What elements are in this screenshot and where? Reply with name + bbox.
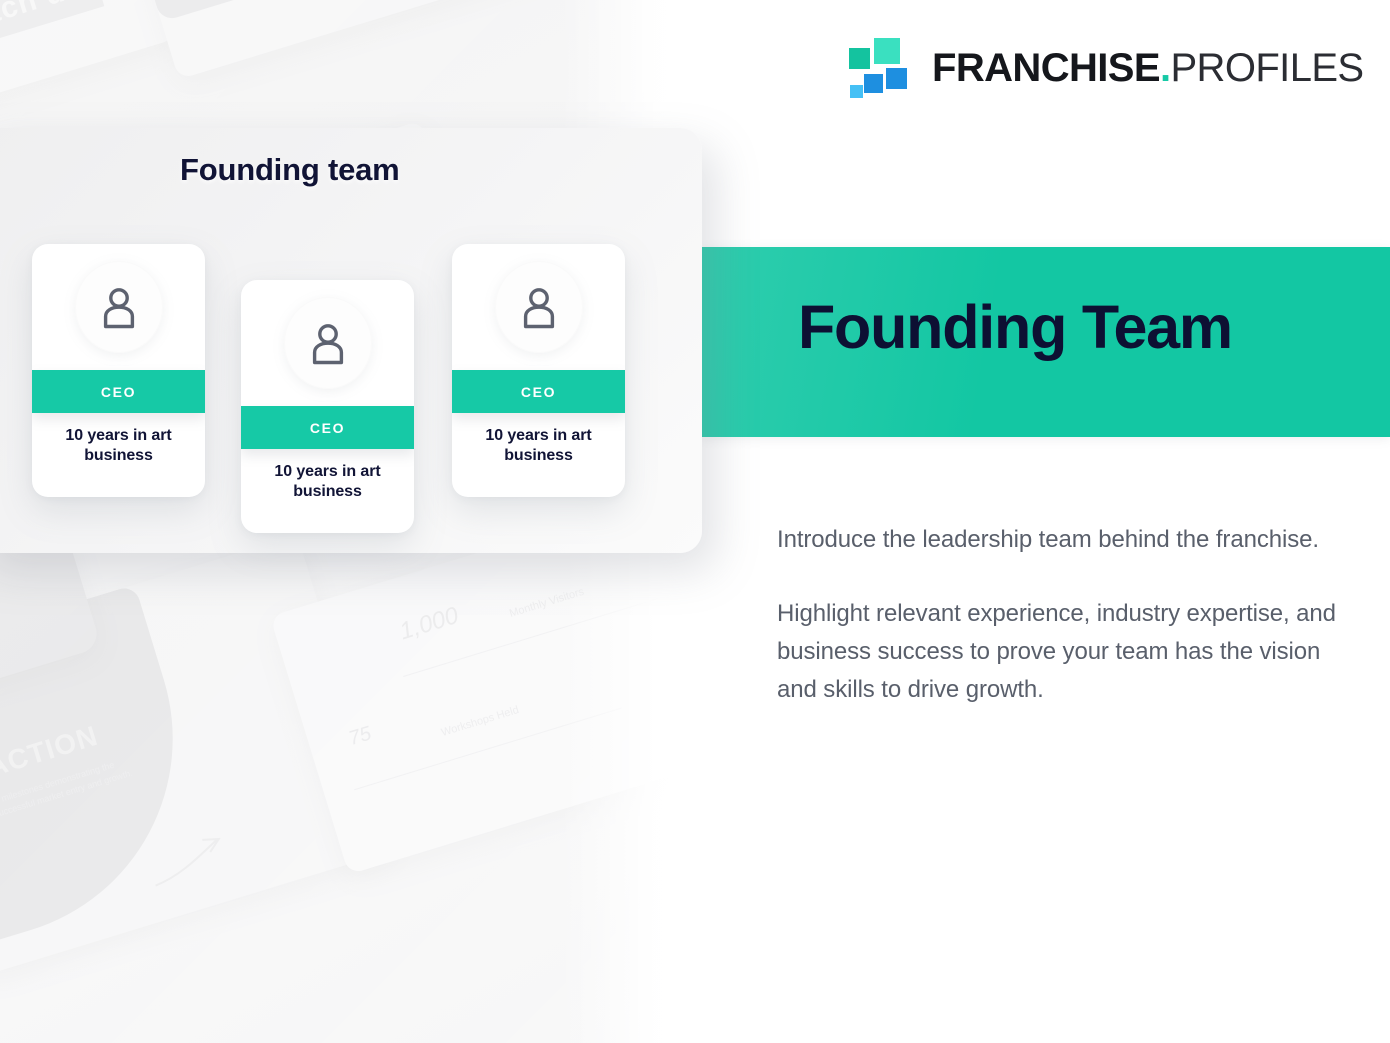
logo-square-mint: [874, 38, 900, 64]
avatar: [75, 261, 163, 353]
person-icon: [307, 321, 349, 365]
avatar-wrapper: [452, 244, 625, 370]
page-title: Founding Team: [798, 297, 1232, 358]
mini-slide-cover: COMPANY NAME Investor pitch deck: [0, 0, 177, 144]
brand-wordmark: FRANCHISE.PROFILES: [932, 48, 1364, 88]
mini-stat-value-0: 1,000: [396, 602, 462, 646]
team-member-role: CEO: [452, 370, 625, 413]
logo-square-blue-2: [864, 74, 883, 93]
avatar: [495, 261, 583, 353]
avatar: [284, 297, 372, 389]
person-icon: [518, 285, 560, 329]
mini-stat-label-0: Monthly Visitors: [508, 586, 586, 620]
team-member-role: CEO: [241, 406, 414, 449]
team-member-card[interactable]: CEO 10 years in art business: [241, 280, 414, 533]
mini-stat-value-1: 75: [346, 722, 374, 751]
brand-word-dot: .: [1160, 46, 1171, 90]
title-band: Founding Team: [702, 247, 1390, 437]
avatar-wrapper: [32, 244, 205, 370]
team-member-description: 10 years in art business: [241, 462, 414, 501]
team-member-description: 10 years in art business: [32, 426, 205, 465]
founding-team-panel-title: Founding team: [180, 152, 400, 188]
logo-square-blue-light: [850, 85, 863, 98]
founding-team-panel: Founding team CEO 10 years in art busine…: [0, 128, 702, 553]
franchise-profiles-logo-squares-icon: [848, 38, 910, 98]
brand-word-secondary: PROFILES: [1170, 46, 1363, 90]
avatar-wrapper: [241, 280, 414, 406]
arrow-up-right-icon: [144, 832, 232, 894]
body-copy: Introduce the leadership team behind the…: [777, 521, 1353, 710]
body-paragraph-2: Highlight relevant experience, industry …: [777, 595, 1353, 709]
person-icon: [98, 285, 140, 329]
body-paragraph-1: Introduce the leadership team behind the…: [777, 521, 1353, 559]
logo-square-teal: [849, 48, 870, 69]
team-member-card[interactable]: CEO 10 years in art business: [452, 244, 625, 497]
team-member-role: CEO: [32, 370, 205, 413]
team-member-card[interactable]: CEO 10 years in art business: [32, 244, 205, 497]
slide-canvas: MARKET Demand for creative spaces in urb…: [0, 0, 1390, 1043]
team-member-description: 10 years in art business: [452, 426, 625, 465]
logo-square-blue: [886, 68, 907, 89]
brand-word-primary: FRANCHISE: [932, 46, 1160, 90]
right-pane: FRANCHISE.PROFILES Founding Team Introdu…: [680, 0, 1390, 1043]
mini-stat-label-1: Workshops Held: [440, 704, 520, 739]
brand-logo: FRANCHISE.PROFILES: [848, 38, 1364, 98]
